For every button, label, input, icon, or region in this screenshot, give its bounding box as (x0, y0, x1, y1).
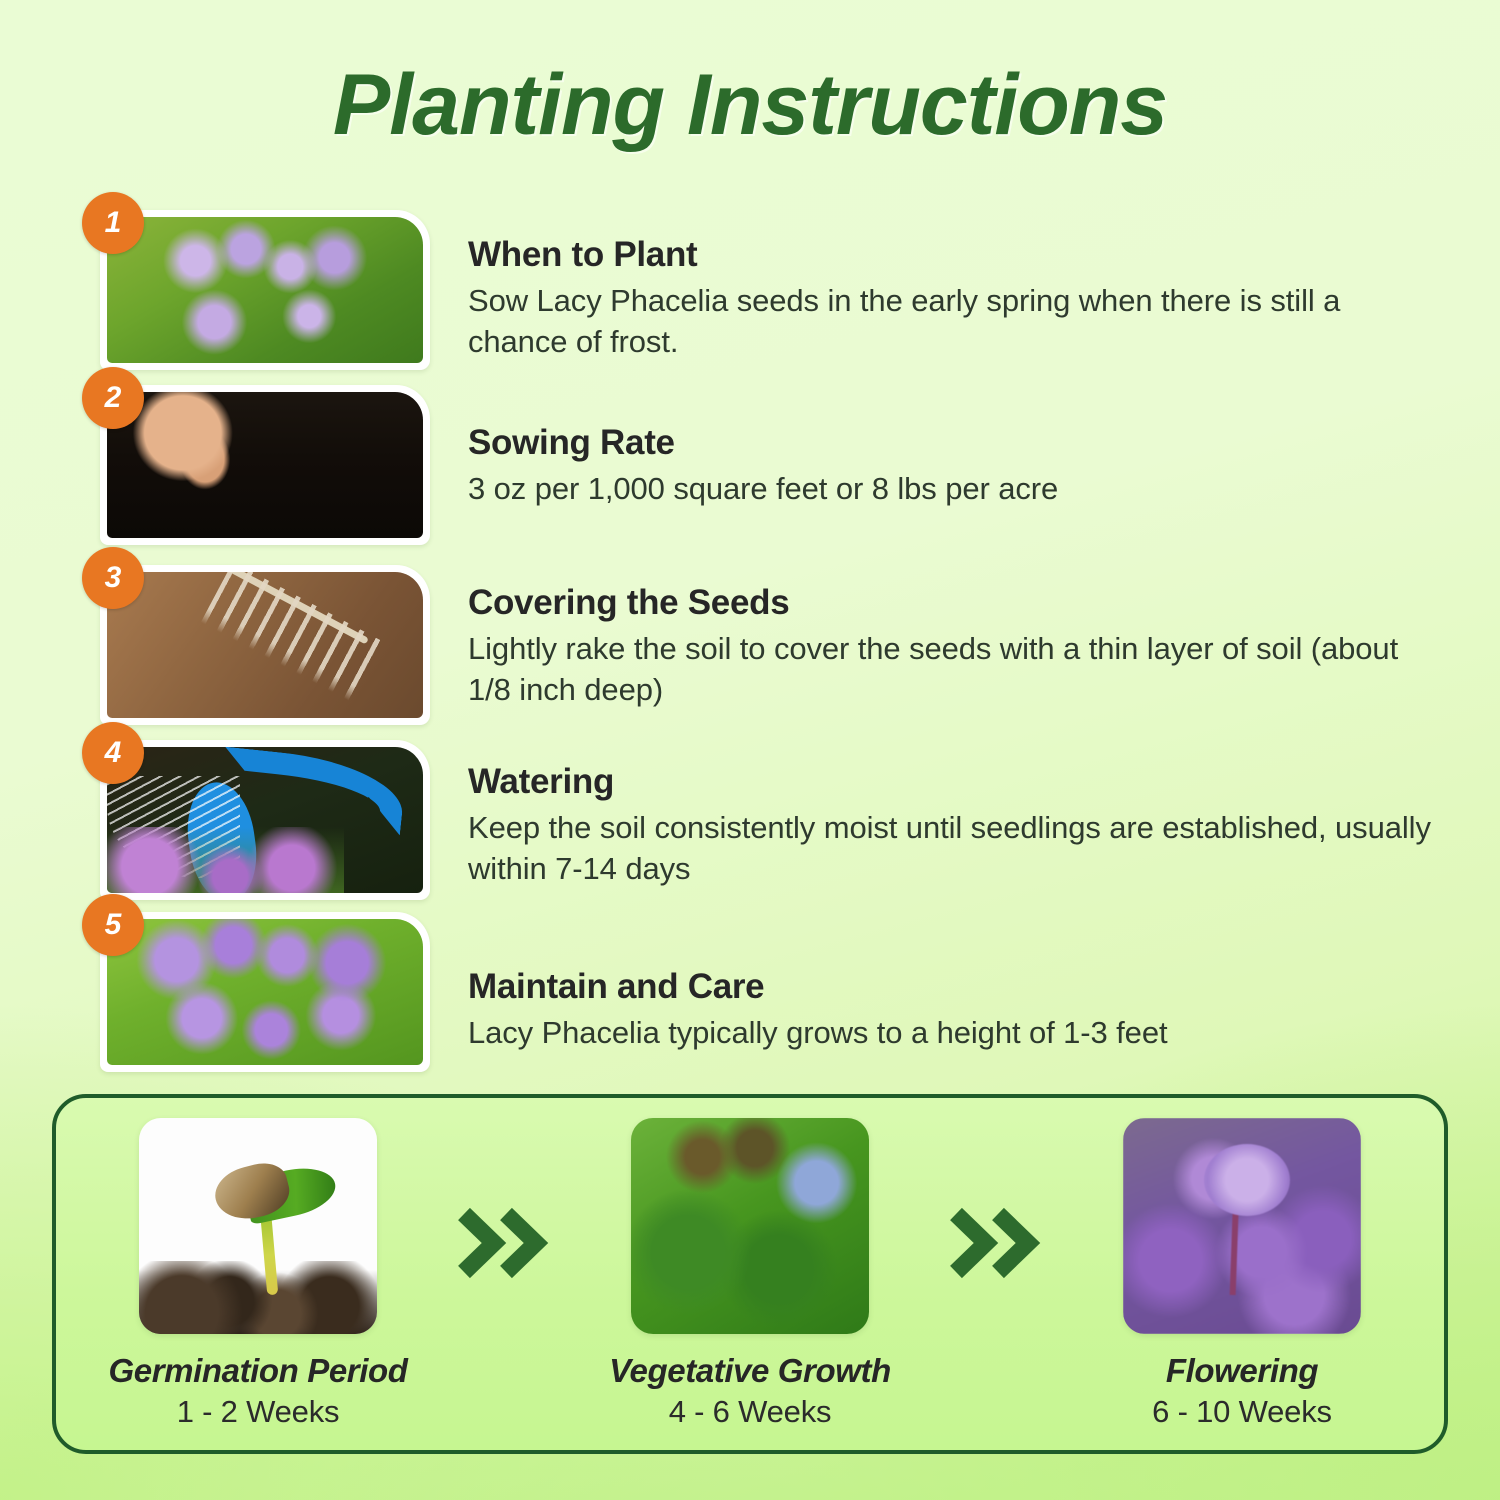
planting-steps-list: 1 When to Plant Sow Lacy Phacelia seeds … (0, 195, 1500, 1085)
stage-label-vegetative: Vegetative Growth (609, 1352, 891, 1390)
step-image-frame-4: 4 (100, 740, 430, 900)
stage-duration-vegetative: 4 - 6 Weeks (669, 1394, 832, 1430)
page-title: Planting Instructions (0, 62, 1500, 148)
step-number-badge-2: 2 (82, 367, 144, 429)
step-number-badge-4: 4 (82, 722, 144, 784)
photo-art (631, 1118, 869, 1334)
step-title-1: When to Plant (468, 235, 1448, 275)
step-body-5: Lacy Phacelia typically grows to a heigh… (468, 1013, 1448, 1054)
timeline-stage-germination: Germination Period 1 - 2 Weeks (108, 1118, 408, 1430)
step-title-2: Sowing Rate (468, 423, 1448, 463)
step-body-3: Lightly rake the soil to cover the seeds… (468, 629, 1448, 711)
rake-tines-art (192, 572, 389, 718)
rake-in-soil-photo (107, 572, 423, 718)
stage-duration-flowering: 6 - 10 Weeks (1152, 1394, 1332, 1430)
double-chevron-right-icon (456, 1206, 552, 1285)
step-image-frame-1: 1 (100, 210, 430, 370)
step-text-4: Watering Keep the soil consistently mois… (468, 762, 1448, 890)
timeline-stage-flowering: Flowering 6 - 10 Weeks (1092, 1118, 1392, 1430)
hand-sowing-seeds-photo (107, 392, 423, 538)
double-chevron-right-icon-2 (948, 1206, 1044, 1285)
step-number-badge-3: 3 (82, 547, 144, 609)
photo-art (107, 572, 423, 718)
photo-art (107, 919, 423, 1065)
seedling-sprout-photo (139, 1118, 377, 1334)
step-body-4: Keep the soil consistently moist until s… (468, 808, 1448, 890)
phacelia-flowers-photo (107, 217, 423, 363)
photo-art (107, 217, 423, 363)
stage-label-germination: Germination Period (108, 1352, 407, 1390)
step-image-frame-2: 2 (100, 385, 430, 545)
green-foliage-photo (631, 1118, 869, 1334)
step-body-1: Sow Lacy Phacelia seeds in the early spr… (468, 281, 1448, 363)
step-image-frame-5: 5 (100, 912, 430, 1072)
stage-duration-germination: 1 - 2 Weeks (177, 1394, 340, 1430)
step-number-badge-5: 5 (82, 894, 144, 956)
photo-art (139, 1118, 377, 1334)
step-text-1: When to Plant Sow Lacy Phacelia seeds in… (468, 235, 1448, 363)
step-text-2: Sowing Rate 3 oz per 1,000 square feet o… (468, 423, 1448, 510)
step-number-badge-1: 1 (82, 192, 144, 254)
soil-art (139, 1261, 377, 1334)
step-title-4: Watering (468, 762, 1448, 802)
phacelia-closeup-photo (107, 919, 423, 1065)
flower-head-art (1204, 1144, 1290, 1216)
step-image-frame-3: 3 (100, 565, 430, 725)
background-blooms-art (107, 827, 344, 893)
stage-label-flowering: Flowering (1166, 1352, 1318, 1390)
step-title-5: Maintain and Care (468, 967, 1448, 1007)
photo-art (107, 747, 423, 893)
timeline-stage-vegetative: Vegetative Growth 4 - 6 Weeks (600, 1118, 900, 1430)
step-body-2: 3 oz per 1,000 square feet or 8 lbs per … (468, 469, 1448, 510)
watering-can-photo (107, 747, 423, 893)
growth-timeline-panel: Germination Period 1 - 2 Weeks Vegetativ… (52, 1094, 1448, 1454)
step-title-3: Covering the Seeds (468, 583, 1448, 623)
step-text-3: Covering the Seeds Lightly rake the soil… (468, 583, 1448, 711)
photo-art (107, 392, 423, 538)
purple-flower-field-photo (1123, 1118, 1361, 1334)
step-text-5: Maintain and Care Lacy Phacelia typicall… (468, 967, 1448, 1054)
photo-art (1123, 1118, 1361, 1334)
